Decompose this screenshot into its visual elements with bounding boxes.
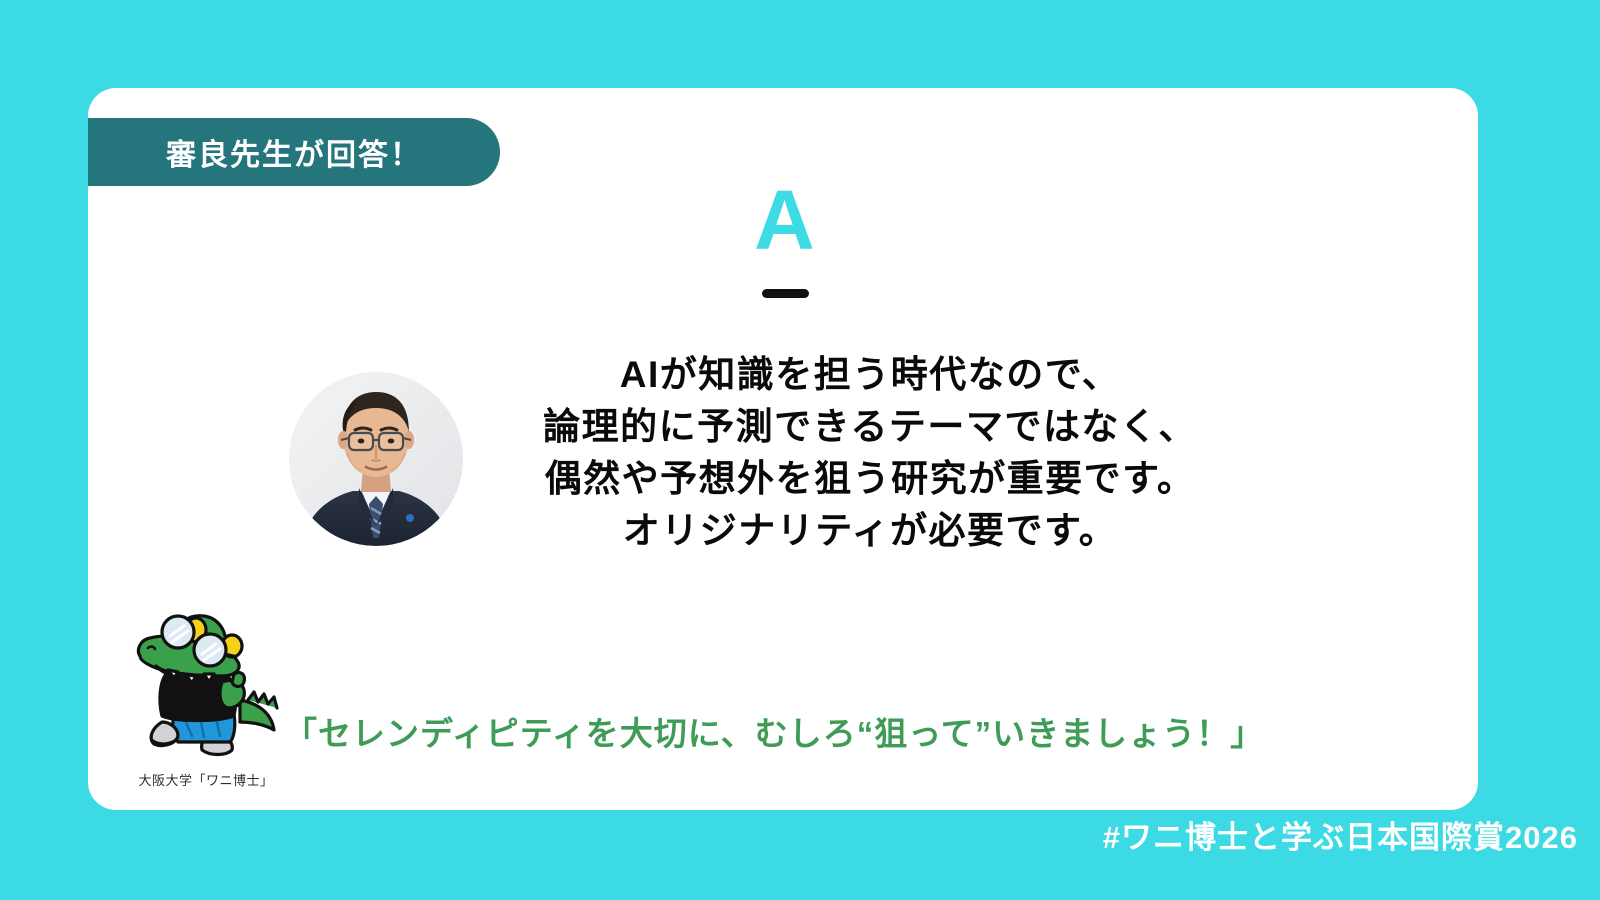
speaker-badge-label: 審良先生が回答！	[166, 130, 422, 174]
crocodile-mascot-icon	[122, 596, 294, 762]
answer-letter: A	[0, 178, 1570, 262]
crocodile-mascot-image	[122, 596, 294, 762]
mascot-caption: 大阪大学「ワニ博士」	[106, 770, 306, 789]
answer-line: 偶然や予想外を狙う研究が重要です。	[440, 453, 1300, 505]
answer-line: オリジナリティが必要です。	[440, 505, 1300, 557]
answer-line: AIが知識を担う時代なので、	[440, 349, 1300, 401]
hashtag-label: #ワニ博士と学ぶ日本国際賞2026	[0, 818, 1578, 858]
portrait-photo	[289, 372, 463, 546]
speaker-badge: 審良先生が回答！	[88, 118, 500, 186]
portrait-photo-image	[289, 372, 463, 546]
answer-body: AIが知識を担う時代なので、 論理的に予測できるテーマではなく、 偶然や予想外を…	[440, 349, 1300, 557]
answer-line: 論理的に予測できるテーマではなく、	[440, 401, 1300, 453]
pull-quote: 「セレンディピティを大切に、むしろ“狙って”いきましょう！」	[284, 712, 1314, 756]
slide-canvas: 審良先生が回答！ A	[0, 0, 1600, 900]
answer-divider	[762, 289, 809, 298]
